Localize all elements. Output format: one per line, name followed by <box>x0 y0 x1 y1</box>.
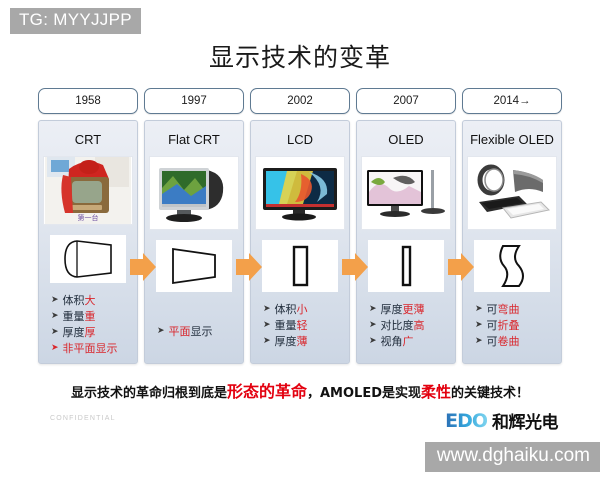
bullet-text: 厚度薄 <box>275 334 308 350</box>
bullet-item: ➤非平面显示 <box>51 341 134 357</box>
bullet-item: ➤体积小 <box>263 302 346 318</box>
bullet-list: ➤厚度更薄 ➤对比度高 ➤视角广 <box>360 302 452 350</box>
tech-name: OLED <box>388 125 423 155</box>
company-logo: EDO 和辉光电 <box>445 408 558 433</box>
year-badge: 1997 <box>144 88 244 114</box>
bullet-text: 视角广 <box>381 334 414 350</box>
column-crt: 1958 CRT 第一台 <box>38 88 138 364</box>
bullet-text: 体积大 <box>63 293 96 309</box>
confidential-label: CONFIDENTIAL <box>50 415 116 422</box>
column-flat-crt: 1997 Flat CRT <box>144 88 244 364</box>
bullet-text: 非平面显示 <box>63 341 118 357</box>
bullet-text: 重量轻 <box>275 318 308 334</box>
summary-caption: 显示技术的革命归根到底是形态的革命，AMOLED是实现柔性的关键技术！ <box>0 378 600 402</box>
bullet-item: ➤重量轻 <box>263 318 346 334</box>
tech-photo-flexible-display <box>467 156 557 230</box>
tech-name: CRT <box>75 125 101 155</box>
logo-mark-text: EDO <box>445 410 487 432</box>
caption-part3: 的关键技术！ <box>451 386 529 401</box>
bullet-item: ➤可弯曲 <box>475 302 558 318</box>
tech-name: LCD <box>287 125 313 155</box>
bullet-item: ➤平面显示 <box>157 324 240 340</box>
bullet-arrow-icon: ➤ <box>369 334 377 348</box>
tech-shape-flat-crt-trapezoid <box>156 240 232 292</box>
bullet-list: ➤可弯曲 ➤可折叠 ➤可卷曲 <box>466 302 558 350</box>
tech-panel: Flat CRT <box>144 120 244 364</box>
caption-highlight1: 形态的革命 <box>227 382 307 401</box>
bullet-text: 平面显示 <box>169 324 213 340</box>
tech-shape-flexible-wave <box>474 240 550 292</box>
bullet-item: ➤视角广 <box>369 334 452 350</box>
bullet-item: ➤可折叠 <box>475 318 558 334</box>
tech-panel: LCD <box>250 120 350 364</box>
bullet-item: ➤厚度更薄 <box>369 302 452 318</box>
column-oled: 2007 OLED <box>356 88 456 364</box>
caption-part2: ，AMOLED是实现 <box>307 386 421 401</box>
bullet-text: 重量重 <box>63 309 96 325</box>
column-lcd: 2002 LCD <box>250 88 350 364</box>
bullet-text: 体积小 <box>275 302 308 318</box>
bullet-item: ➤厚度薄 <box>263 334 346 350</box>
bullet-list: ➤体积大 ➤重量重 ➤厚度厚 ➤非平面显示 <box>42 293 134 357</box>
tech-photo-lcd-tv <box>255 156 345 230</box>
page-title: 显示技术的变革 <box>0 38 600 74</box>
tg-watermark: TG: MYYJJPP <box>10 8 141 34</box>
bullet-arrow-icon: ➤ <box>157 324 165 338</box>
bullet-arrow-icon: ➤ <box>369 302 377 316</box>
bullet-arrow-icon: ➤ <box>475 302 483 316</box>
tech-panel: OLED <box>356 120 456 364</box>
tech-shape-oled-thin-slab <box>368 240 444 292</box>
bullet-item: ➤重量重 <box>51 309 134 325</box>
tech-panel: CRT 第一台 <box>38 120 138 364</box>
bullet-item: ➤体积大 <box>51 293 134 309</box>
bullet-arrow-icon: ➤ <box>51 325 59 339</box>
tech-photo-crt-tv: 第一台 <box>43 156 133 225</box>
bullet-item: ➤对比度高 <box>369 318 452 334</box>
bullet-text: 厚度厚 <box>63 325 96 341</box>
bullet-arrow-icon: ➤ <box>475 318 483 332</box>
bullet-text: 可弯曲 <box>487 302 520 318</box>
bullet-arrow-icon: ➤ <box>51 309 59 323</box>
tech-name: Flexible OLED <box>470 125 554 155</box>
caption-highlight2: 柔性 <box>421 383 451 401</box>
bullet-arrow-icon: ➤ <box>263 302 271 316</box>
bullet-arrow-icon: ➤ <box>51 341 59 355</box>
bullet-arrow-icon: ➤ <box>51 293 59 307</box>
technology-columns: 1958 CRT 第一台 <box>38 88 566 364</box>
bullet-text: 厚度更薄 <box>381 302 425 318</box>
bullet-text: 对比度高 <box>381 318 425 334</box>
bullet-arrow-icon: ➤ <box>263 318 271 332</box>
logo-company-name: 和辉光电 <box>492 408 558 433</box>
site-watermark: www.dghaiku.com <box>425 442 600 472</box>
bullet-text: 可卷曲 <box>487 334 520 350</box>
bullet-arrow-icon: ➤ <box>263 334 271 348</box>
bullet-arrow-icon: ➤ <box>475 334 483 348</box>
bullet-item: ➤厚度厚 <box>51 325 134 341</box>
tech-photo-flat-crt-monitor <box>149 156 239 230</box>
bullet-list: ➤平面显示 <box>148 302 240 340</box>
column-flexible-oled: 2014→ Flexible OLED <box>462 88 562 364</box>
year-badge: 2007 <box>356 88 456 114</box>
svg-text:第一台: 第一台 <box>78 213 99 222</box>
tech-name: Flat CRT <box>168 125 220 155</box>
tech-shape-crt-funnel <box>50 235 126 283</box>
bullet-item: ➤可卷曲 <box>475 334 558 350</box>
tech-shape-lcd-slab <box>262 240 338 292</box>
year-badge: 2014→ <box>462 88 562 114</box>
bullet-arrow-icon: ➤ <box>369 318 377 332</box>
bullet-text: 可折叠 <box>487 318 520 334</box>
bullet-list: ➤体积小 ➤重量轻 ➤厚度薄 <box>254 302 346 350</box>
caption-part1: 显示技术的革命归根到底是 <box>71 386 227 401</box>
year-badge: 1958 <box>38 88 138 114</box>
tech-photo-oled-monitor <box>361 156 451 230</box>
year-badge: 2002 <box>250 88 350 114</box>
tech-panel: Flexible OLED <box>462 120 562 364</box>
